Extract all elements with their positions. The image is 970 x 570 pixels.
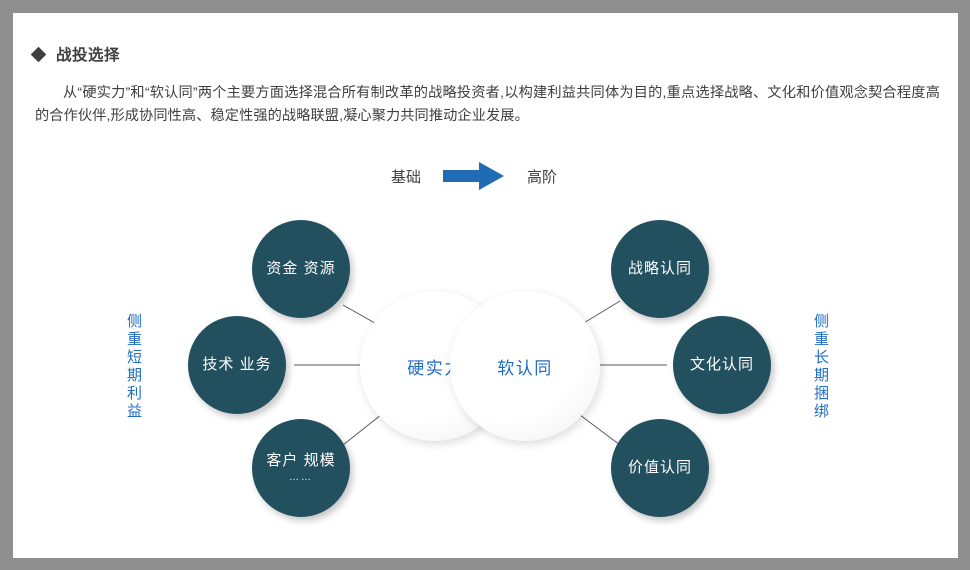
node-tech-business-label: 技术 业务 <box>202 357 271 374</box>
node-customer-scale-sublabel: …… <box>289 472 313 483</box>
node-strategy-identity-label: 战略认同 <box>628 261 692 278</box>
node-soft-identity-label: 软认同 <box>497 354 553 379</box>
body-paragraph: 从“硬实力”和“软认同”两个主要方面选择混合所有制改革的战略投资者,以构建利益共… <box>35 82 940 128</box>
node-value-identity-label: 价值认同 <box>628 460 692 477</box>
node-culture-identity-label: 文化认同 <box>690 357 754 374</box>
diamond-bullet-icon <box>31 46 47 62</box>
node-tech-business[interactable]: 技术 业务 <box>188 316 286 414</box>
page-title: 战投选择 <box>56 43 120 65</box>
right-block-arrow-icon <box>443 161 505 191</box>
node-strategy-identity[interactable]: 战略认同 <box>611 220 709 318</box>
page-heading: 战投选择 <box>33 43 120 65</box>
node-customer-scale-label: 客户 规模 <box>266 453 335 470</box>
node-capital-resource[interactable]: 资金 资源 <box>252 220 350 318</box>
progression-right-label: 高阶 <box>527 166 557 187</box>
progression-left-label: 基础 <box>391 166 421 187</box>
progression-indicator: 基础 高阶 <box>391 161 557 191</box>
node-culture-identity[interactable]: 文化认同 <box>673 316 771 414</box>
side-label-right: 侧重长期捆绑 <box>813 313 828 421</box>
slide-page: 战投选择 从“硬实力”和“软认同”两个主要方面选择混合所有制改革的战略投资者,以… <box>13 13 958 558</box>
node-soft-identity[interactable]: 软认同 <box>450 291 600 441</box>
node-value-identity[interactable]: 价值认同 <box>611 419 709 517</box>
node-customer-scale[interactable]: 客户 规模 …… <box>252 419 350 517</box>
side-label-left: 侧重短期利益 <box>126 313 141 421</box>
node-capital-resource-label: 资金 资源 <box>266 261 335 278</box>
